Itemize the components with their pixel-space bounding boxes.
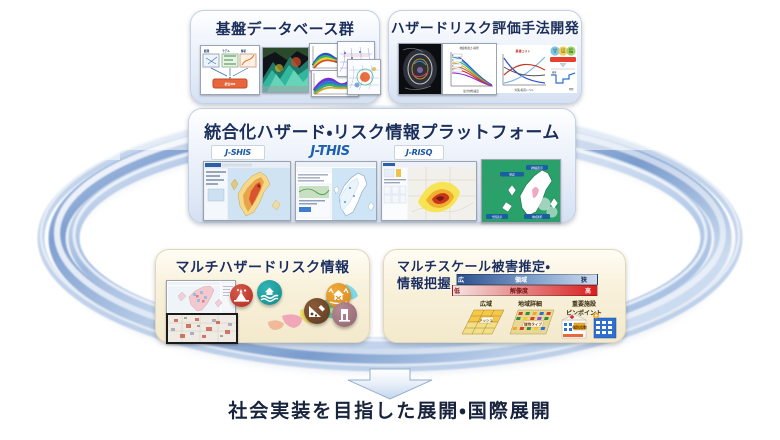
panel-database-title: 基盤データベース群 xyxy=(191,18,379,39)
svg-text:全国表示: 全国表示 xyxy=(492,215,503,219)
svg-text:地震動強さ-損傷: 地震動強さ-損傷 xyxy=(459,46,478,50)
resolution-left-label: 低 xyxy=(454,286,460,295)
panel-hazard-method-title: ハザードリスク評価手法開発 xyxy=(389,18,581,38)
building-icon[interactable] xyxy=(332,302,357,327)
wide-area-scale-label: 広域 xyxy=(468,299,504,308)
resolution-center-label: 解像度 xyxy=(510,286,528,295)
svg-text:解説: 解説 xyxy=(509,173,515,177)
thumb-fragility-curve-chart: 地震動強さ-損傷 最大地動速度 xyxy=(442,43,497,95)
svg-text:建物タイプ: 建物タイプ xyxy=(523,322,542,327)
critical-facility-scale-label-line1: 重要施設 xyxy=(558,299,610,308)
svg-text:地域選択: 地域選択 xyxy=(532,215,543,219)
panel-database[interactable]: 基盤データベース群 観測モデル解析 統合DB xyxy=(190,10,380,104)
figure-canvas: 基盤データベース群 観測モデル解析 統合DB xyxy=(0,0,780,440)
tsunami-icon[interactable] xyxy=(257,280,282,305)
area-left-label: 広 xyxy=(458,275,464,284)
regional-detail-buildings-graphic: 建物タイプ xyxy=(506,308,558,340)
thumb-j-shis-hazard-map xyxy=(203,161,291,221)
j-shis-logo: J-SHIS xyxy=(211,145,265,160)
svg-text:最大地動速度: 最大地動速度 xyxy=(463,89,479,93)
svg-text:メッシュ: メッシュ xyxy=(479,318,493,322)
area-center-label: 領域 xyxy=(515,275,527,284)
panel-platform-title: 統合化ハザード・リスク情報プラットフォーム xyxy=(189,118,575,143)
thumb-structural-scan-image xyxy=(398,43,442,95)
svg-text:個別応動: 個別応動 xyxy=(571,324,587,329)
thumb-risk-cost-crossing-chart: 最適コスト 対策・投資レベル xyxy=(497,45,549,93)
svg-text:モデル: モデル xyxy=(222,49,230,53)
j-this-logo-text: J-THIS xyxy=(310,144,349,159)
landslide-icon[interactable] xyxy=(304,298,330,324)
j-risq-logo-text: J-RISQ xyxy=(406,148,432,157)
svg-text:対策・投資レベル: 対策・投資レベル xyxy=(514,88,533,92)
area-right-label: 狭 xyxy=(581,275,587,284)
panel-multi-hazard-title: マルチハザードリスク情報 xyxy=(156,257,369,277)
svg-text:観測: 観測 xyxy=(204,49,210,53)
panel-multi-hazard[interactable]: マルチハザードリスク情報 xyxy=(155,249,370,343)
svg-text:統合DB: 統合DB xyxy=(224,81,236,86)
thumb-regional-intensity-map xyxy=(347,59,381,95)
panel-platform[interactable]: 統合化ハザード・リスク情報プラットフォーム J-SHIS J-THIS J-RI… xyxy=(188,108,576,223)
thumb-stakeholder-process-diagram: 自治 体 企業 住民 専門 機関 被害 時間 xyxy=(549,45,577,93)
panel-hazard-method[interactable]: ハザードリスク評価手法開発 地震動強さ-損傷 xyxy=(388,10,582,104)
thumb-terrain-velocity-map xyxy=(262,47,309,93)
thumb-japan-region-map: 詳細表示 解説 地域選択 全国表示 xyxy=(481,159,561,223)
volcano-icon[interactable] xyxy=(230,284,253,307)
thumb-urban-damage-map xyxy=(166,313,238,344)
thumb-j-this-site-map xyxy=(295,161,377,221)
regional-detail-scale-label: 地域詳細 xyxy=(508,299,552,308)
svg-text:時間: 時間 xyxy=(569,87,573,91)
panel-multi-scale[interactable]: マルチスケール被害推定・ 情報把握 広 領域 狭 低 解像度 高 広域 地域詳細… xyxy=(383,249,626,343)
critical-facility-graphic: 個別応動 xyxy=(560,312,618,340)
thumb-national-risk-map xyxy=(166,280,236,314)
thumb-observation-flow-diagram: 観測モデル解析 統合DB xyxy=(200,45,260,95)
svg-text:解析: 解析 xyxy=(240,49,247,53)
j-this-logo: J-THIS xyxy=(299,143,361,159)
wide-area-mesh-graphic: メッシュ xyxy=(460,308,512,340)
j-shis-logo-text: J-SHIS xyxy=(225,148,251,157)
svg-text:詳細表示: 詳細表示 xyxy=(531,165,543,170)
footer-caption: 社会実装を目指した展開・国際展開 xyxy=(0,396,780,423)
thumb-j-risq-shaking-map xyxy=(381,161,477,221)
svg-text:最適コスト: 最適コスト xyxy=(515,48,530,53)
resolution-right-label: 高 xyxy=(585,286,591,295)
j-risq-logo: J-RISQ xyxy=(394,145,444,160)
